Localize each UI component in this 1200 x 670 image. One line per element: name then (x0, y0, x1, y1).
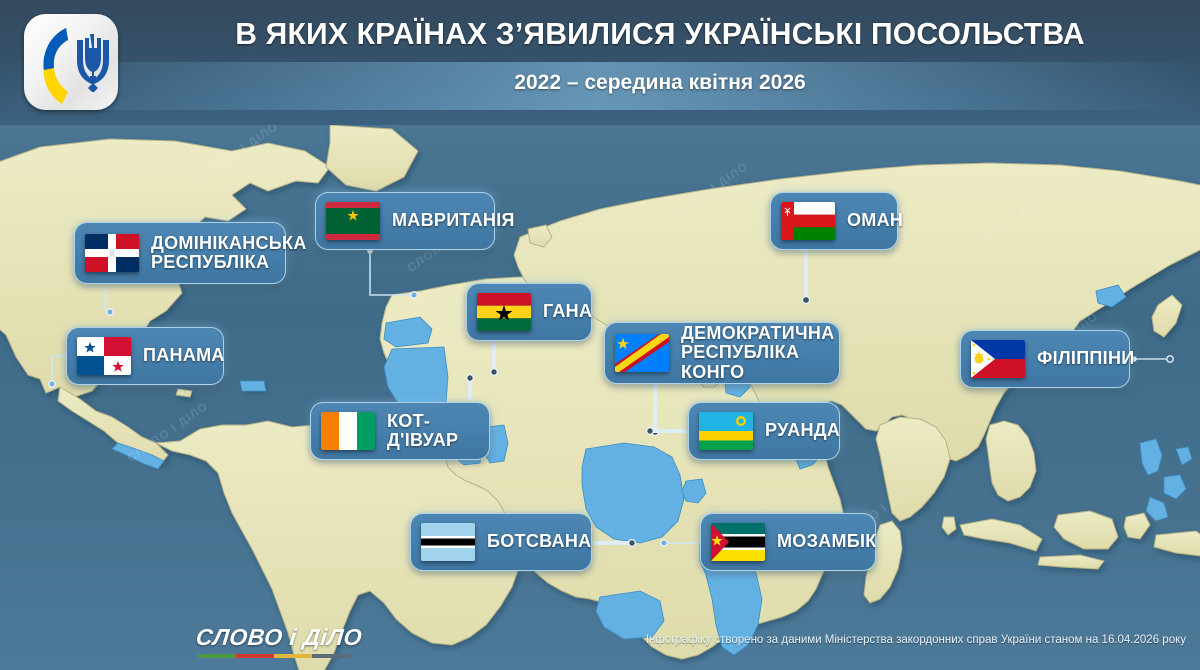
ukraine-mfa-emblem (24, 14, 118, 110)
highlight-philippines (1140, 439, 1192, 521)
cote-divoire-flag (321, 412, 375, 450)
philippines-flag (971, 340, 1025, 378)
highlight-dominican-republic (240, 381, 266, 391)
world-map: СЛОВО І ДІЛО СЛОВО І ДІЛО СЛОВО І ДІЛО С… (0, 125, 1200, 670)
map-label-text: ДЕМОКРАТИЧНА РЕСПУБЛІКА КОНГО (681, 324, 835, 382)
map-label-rwanda[interactable]: РУАНДА (688, 402, 840, 460)
map-label-text: ОМАН (847, 211, 903, 230)
landmass-india (876, 417, 950, 521)
highlight-mauritania (384, 347, 448, 407)
slovoidilo-wordmark: СЛОВО і ДіЛО (195, 624, 364, 651)
island-borneo (1054, 511, 1118, 549)
slovoidilo-logo[interactable]: СЛОВО і ДіЛО (196, 624, 362, 658)
island-new-guinea (1154, 531, 1200, 557)
dr-congo-flag (615, 334, 669, 372)
island-sumatra (960, 519, 1042, 551)
map-label-text: МАВРИТАНІЯ (392, 211, 515, 230)
dominican-republic-flag (85, 234, 139, 272)
source-note: Інфографіку створено за даними Міністерс… (646, 634, 1186, 646)
island-jamaica (176, 389, 192, 397)
map-label-panama[interactable]: ПАНАМА (66, 327, 224, 385)
world-map-svg (0, 125, 1200, 670)
map-label-text: МОЗАМБІК (777, 532, 877, 551)
mozambique-flag (711, 523, 765, 561)
page-title: В ЯКИХ КРАЇНАХ З’ЯВИЛИСЯ УКРАЇНСЬКІ ПОСО… (165, 16, 1154, 52)
trident-icon (77, 34, 109, 92)
island-japan (1152, 295, 1182, 337)
page-subtitle: 2022 – середина квітня 2026 (150, 71, 1170, 95)
map-label-text: КОТ-Д'ІВУАР (387, 412, 473, 451)
panama-flag (77, 337, 131, 375)
island-java (1038, 555, 1104, 569)
map-label-dominican-republic[interactable]: ДОМІНІКАНСЬКА РЕСПУБЛІКА (74, 222, 286, 284)
map-label-text: ПАНАМА (143, 346, 225, 365)
map-label-ghana[interactable]: ГАНА (466, 283, 592, 341)
island-sri-lanka (942, 517, 956, 535)
slovoidilo-color-bar (198, 654, 350, 658)
oman-flag (781, 202, 835, 240)
map-label-philippines[interactable]: ФІЛІППІНИ (960, 330, 1130, 388)
map-label-text: БОТСВАНА (487, 532, 591, 551)
island-sulawesi (1124, 513, 1150, 539)
highlight-dr-congo (582, 443, 684, 543)
landmass-greenland (326, 125, 418, 191)
map-label-oman[interactable]: ОМАН (770, 192, 898, 250)
map-label-botswana[interactable]: БОТСВАНА (410, 513, 592, 571)
map-label-text: РУАНДА (765, 421, 840, 440)
header-bar: В ЯКИХ КРАЇНАХ З’ЯВИЛИСЯ УКРАЇНСЬКІ ПОСО… (0, 0, 1200, 125)
mauritania-flag (326, 202, 380, 240)
landmass-southeast-asia (986, 421, 1036, 501)
infographic-root: СЛОВО І ДІЛО СЛОВО І ДІЛО СЛОВО І ДІЛО С… (0, 0, 1200, 670)
map-label-text: ФІЛІППІНИ (1037, 349, 1135, 368)
map-label-text: ГАНА (543, 302, 592, 321)
map-label-text: ДОМІНІКАНСЬКА РЕСПУБЛІКА (151, 234, 307, 273)
map-label-mauritania[interactable]: МАВРИТАНІЯ (315, 192, 495, 250)
ghana-flag (477, 293, 531, 331)
map-label-cote-divoire[interactable]: КОТ-Д'ІВУАР (310, 402, 490, 460)
map-label-dr-congo[interactable]: ДЕМОКРАТИЧНА РЕСПУБЛІКА КОНГО (604, 322, 840, 384)
landmass-central-america (58, 387, 168, 465)
botswana-flag (421, 523, 475, 561)
map-label-mozambique[interactable]: МОЗАМБІК (700, 513, 876, 571)
rwanda-flag (699, 412, 753, 450)
footer-bar: СЛОВО і ДіЛО Інфографіку створено за дан… (0, 618, 1200, 670)
